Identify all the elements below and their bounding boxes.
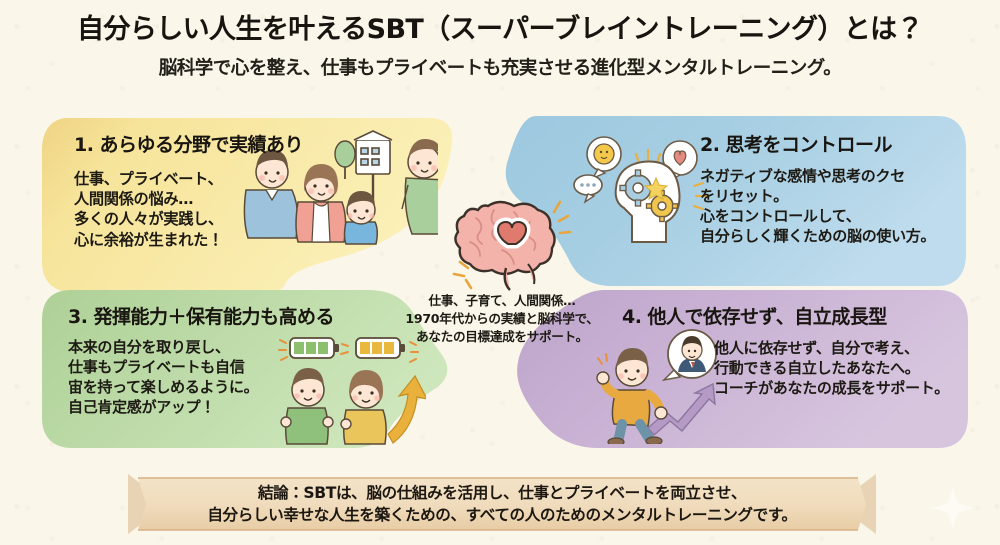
card-4-content: 4. 他人で依存せず、自立成長型 他人に依存せず、自分で考え、 行動できる自立し… — [622, 302, 949, 399]
benefit-card-1[interactable]: 1. あらゆる分野で実績あり 仕事、プライベート、 人間関係の悩み… 多くの人々… — [38, 112, 458, 292]
center-caption-line-3: あなたの目標達成をサポート。 — [386, 328, 618, 346]
card-2-content: 2. 思考をコントロール ネガティブな感情や思考のクセ をリセット。 心をコント… — [700, 130, 935, 247]
center-caption-line-2: 1970年代からの実績と脳科学で、 — [386, 310, 618, 328]
card-1-body-line-3: 多くの人々が実践し、 — [74, 209, 303, 229]
card-3-heading: 3. 発揮能力＋保有能力も高める — [68, 302, 334, 329]
card-3-body-line-2: 仕事もプライベートも自信 — [68, 358, 334, 378]
header-block: 自分らしい人生を叶えるSBT（スーパーブレイントレーニング）とは？ 脳科学で心を… — [0, 14, 1000, 80]
card-1-body: 仕事、プライベート、 人間関係の悩み… 多くの人々が実践し、 心に余裕が生まれた… — [74, 169, 303, 250]
card-2-body-line-4: 自分らしく輝くための脳の使い方。 — [700, 227, 935, 247]
card-1-content: 1. あらゆる分野で実績あり 仕事、プライベート、 人間関係の悩み… 多くの人々… — [74, 130, 303, 250]
card-3-content: 3. 発揮能力＋保有能力も高める 本来の自分を取り戻し、 仕事もプライベートも自… — [68, 302, 334, 418]
conclusion-text: 結論：SBTは、脳の仕組みを活用し、仕事とプライベートを両立させ、 自分らしい幸… — [128, 470, 876, 538]
card-4-body-line-2: 行動できる自立したあなたへ。 — [714, 359, 949, 379]
conclusion-line-2: 自分らしい幸せな人生を築くための、すべての人のためのメンタルトレーニングです。 — [207, 504, 796, 526]
card-4-body-line-3: コーチがあなたの成長をサポート。 — [714, 379, 949, 399]
card-2-body-line-2: をリセット。 — [700, 187, 935, 207]
card-4-heading: 4. 他人で依存せず、自立成長型 — [622, 302, 949, 329]
card-1-body-line-2: 人間関係の悩み… — [74, 189, 303, 209]
page-title: 自分らしい人生を叶えるSBT（スーパーブレイントレーニング）とは？ — [0, 14, 1000, 45]
card-1-body-line-4: 心に余裕が生まれた！ — [74, 230, 303, 250]
conclusion-line-1: 結論：SBTは、脳の仕組みを活用し、仕事とプライベートを両立させ、 — [258, 482, 746, 504]
card-1-body-line-1: 仕事、プライベート、 — [74, 169, 303, 189]
card-3-body: 本来の自分を取り戻し、 仕事もプライベートも自信 宙を持って楽しめるように。 自… — [68, 338, 334, 418]
card-1-heading: 1. あらゆる分野で実績あり — [74, 130, 303, 157]
card-3-body-line-4: 自己肯定感がアップ！ — [68, 398, 334, 418]
card-4-body-line-1: 他人に依存せず、自分で考え、 — [714, 339, 949, 359]
head-with-gears-illustration — [572, 132, 712, 252]
conclusion-ribbon: 結論：SBTは、脳の仕組みを活用し、仕事とプライベートを両立させ、 自分らしい幸… — [128, 470, 876, 538]
card-4-body: 他人に依存せず、自分で考え、 行動できる自立したあなたへ。 コーチがあなたの成長… — [714, 339, 949, 399]
card-2-body-line-1: ネガティブな感情や思考のクセ — [700, 167, 935, 187]
center-caption: 仕事、子育て、人間関係… 1970年代からの実績と脳科学で、 あなたの目標達成を… — [386, 292, 618, 346]
card-2-body-line-3: 心をコントロールして、 — [700, 207, 935, 227]
infographic-canvas: 自分らしい人生を叶えるSBT（スーパーブレイントレーニング）とは？ 脳科学で心を… — [0, 0, 1000, 545]
card-2-body: ネガティブな感情や思考のクセ をリセット。 心をコントロールして、 自分らしく輝… — [700, 167, 935, 247]
card-2-heading: 2. 思考をコントロール — [700, 130, 935, 157]
brain-with-heart-icon — [452, 188, 576, 292]
sparkle-watermark-icon — [930, 485, 976, 531]
page-subtitle: 脳科学で心を整え、仕事もプライベートも充実させる進化型メンタルトレーニング。 — [0, 54, 1000, 80]
card-3-body-line-3: 宙を持って楽しめるように。 — [68, 378, 334, 398]
center-caption-line-1: 仕事、子育て、人間関係… — [386, 292, 618, 310]
card-3-body-line-1: 本来の自分を取り戻し、 — [68, 338, 334, 358]
